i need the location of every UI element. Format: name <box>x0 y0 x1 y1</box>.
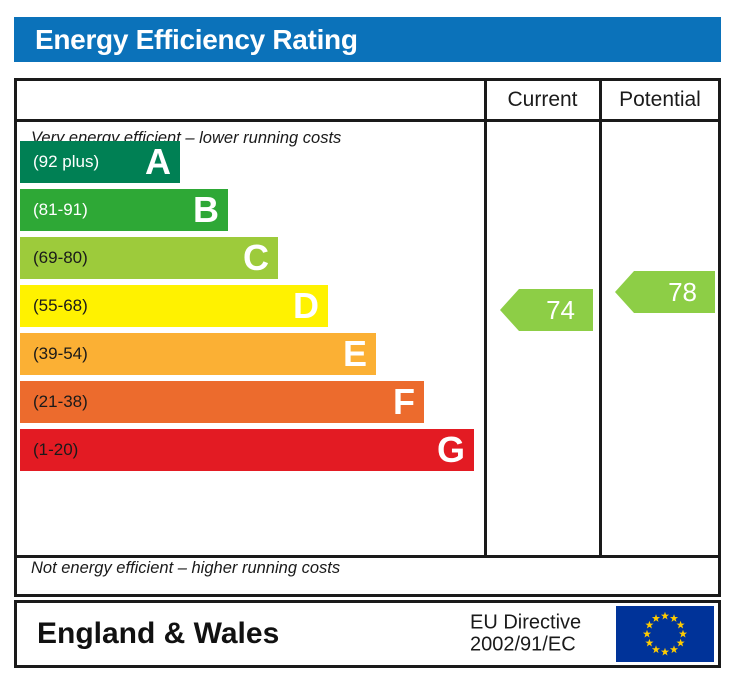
band-letter-f: F <box>393 384 415 420</box>
band-letter-d: D <box>293 288 319 324</box>
footer-region-label: England & Wales <box>37 617 279 651</box>
rating-band-a: (92 plus)A <box>20 141 180 183</box>
table-header-row: Current Potential <box>17 81 718 122</box>
rating-band-e: (39-54)E <box>20 333 376 375</box>
column-divider-current <box>484 122 487 555</box>
band-range-e: (39-54) <box>20 344 88 364</box>
column-header-current: Current <box>484 81 598 119</box>
directive-line-1: EU Directive <box>470 612 581 634</box>
band-range-a: (92 plus) <box>20 152 99 172</box>
rating-arrow-potential: 78 <box>615 271 715 313</box>
eu-flag-icon <box>616 606 714 662</box>
page-title: Energy Efficiency Rating <box>14 24 358 56</box>
band-letter-c: C <box>243 240 269 276</box>
band-range-b: (81-91) <box>20 200 88 220</box>
directive-line-2: 2002/91/EC <box>470 634 581 656</box>
rating-band-f: (21-38)F <box>20 381 424 423</box>
footer-bar: England & Wales EU Directive 2002/91/EC <box>14 600 721 668</box>
rating-chart-frame: Current Potential Very energy efficient … <box>14 78 721 597</box>
band-letter-g: G <box>437 432 465 468</box>
band-letter-b: B <box>193 192 219 228</box>
rating-arrow-current: 74 <box>500 289 593 331</box>
rating-band-b: (81-91)B <box>20 189 228 231</box>
title-banner: Energy Efficiency Rating <box>14 17 721 62</box>
column-header-potential: Potential <box>599 81 718 119</box>
rating-band-d: (55-68)D <box>20 285 328 327</box>
band-letter-a: A <box>145 144 171 180</box>
band-range-c: (69-80) <box>20 248 88 268</box>
caption-not-efficient: Not energy efficient – higher running co… <box>31 559 340 578</box>
band-range-f: (21-38) <box>20 392 88 412</box>
band-range-d: (55-68) <box>20 296 88 316</box>
band-letter-e: E <box>343 336 367 372</box>
footer-directive-label: EU Directive 2002/91/EC <box>470 612 581 657</box>
band-range-g: (1-20) <box>20 440 78 460</box>
rating-band-g: (1-20)G <box>20 429 474 471</box>
rating-band-c: (69-80)C <box>20 237 278 279</box>
bottom-divider <box>17 555 718 558</box>
column-divider-potential <box>599 122 602 555</box>
epc-certificate: Energy Efficiency Rating Current Potenti… <box>0 0 737 690</box>
